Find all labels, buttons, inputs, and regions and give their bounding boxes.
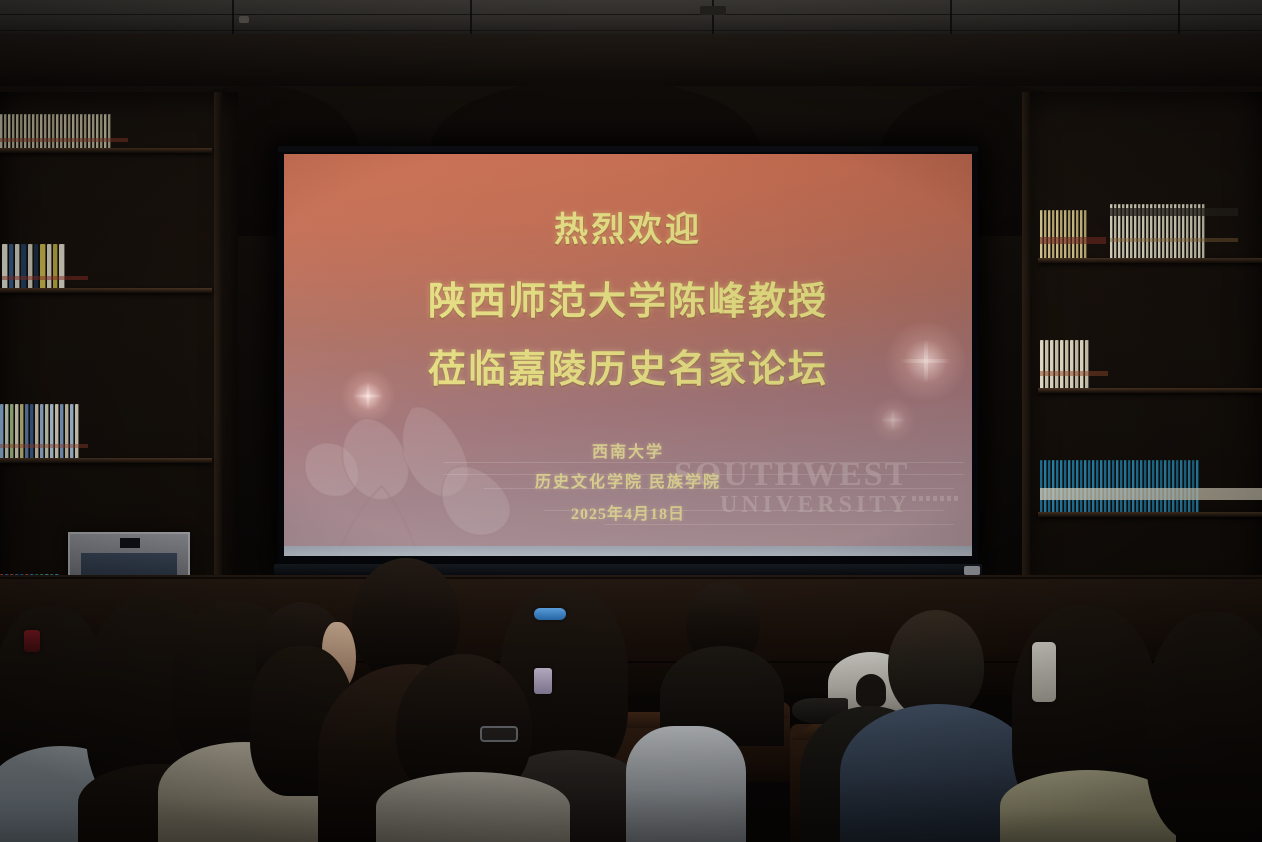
slide-headline-3: 莅临嘉陵历史名家论坛 xyxy=(284,338,972,393)
slide-subtitle-date: 2025年4月18日 xyxy=(284,500,972,524)
book-row xyxy=(1040,340,1108,388)
hair-claw-clip-icon xyxy=(1032,642,1056,702)
attendee-white-collar xyxy=(626,726,746,842)
book-row xyxy=(1110,204,1238,258)
slide-headline-2: 陕西师范大学陈峰教授 xyxy=(284,270,972,325)
presentation-slide: SOUTHWEST UNIVERSITY 热烈欢迎 陕西师范大学陈峰教授 莅临嘉… xyxy=(284,154,972,556)
book-row xyxy=(0,114,128,148)
hair-accessory-icon xyxy=(534,668,552,694)
bookcase-right xyxy=(1022,92,1262,612)
blue-hair-clip-icon xyxy=(534,608,566,620)
hair-tie-icon xyxy=(24,630,40,652)
audience xyxy=(0,542,1262,842)
slide-subtitle-organization: 西南大学 xyxy=(284,438,972,462)
attendee-far-right xyxy=(1146,612,1262,842)
projection-screen[interactable]: SOUTHWEST UNIVERSITY 热烈欢迎 陕西师范大学陈峰教授 莅临嘉… xyxy=(278,146,978,568)
book-row xyxy=(1040,210,1106,258)
slide-text-block: 热烈欢迎 陕西师范大学陈峰教授 莅临嘉陵历史名家论坛 西南大学 历史文化学院 民… xyxy=(284,154,972,556)
lecture-hall-scene: SOUTHWEST UNIVERSITY 热烈欢迎 陕西师范大学陈峰教授 莅临嘉… xyxy=(0,0,1262,842)
screen-top-rail xyxy=(278,146,978,152)
book-row xyxy=(1040,460,1262,512)
book-row xyxy=(2,244,88,288)
glasses-icon xyxy=(480,726,518,742)
slide-subtitle-faculty: 历史文化学院 民族学院 xyxy=(284,468,972,492)
book-row xyxy=(0,404,88,458)
slide-headline-1: 热烈欢迎 xyxy=(284,202,972,251)
ceiling-fixture-icon xyxy=(239,16,249,23)
ceiling-fixture-icon xyxy=(700,6,726,15)
bookcase-left xyxy=(0,92,238,612)
attendee-body xyxy=(376,772,570,842)
cap-strap-hole-icon xyxy=(856,674,887,706)
